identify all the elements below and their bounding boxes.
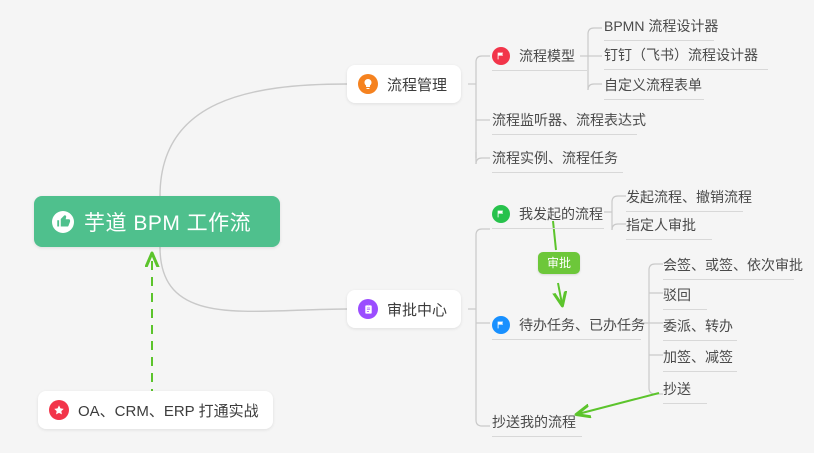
approval-badge-label: 审批: [547, 256, 571, 270]
node-reject[interactable]: 驳回: [663, 281, 691, 309]
node-label-process-listener-expression: 流程监听器、流程表达式: [492, 110, 646, 130]
node-assignee-approval[interactable]: 指定人审批: [626, 211, 696, 239]
node-add-remove-sign[interactable]: 加签、减签: [663, 343, 733, 371]
node-label-custom-process-form: 自定义流程表单: [604, 75, 702, 95]
star-icon: [49, 400, 69, 420]
node-label-todo-done-tasks: 待办任务、已办任务: [519, 315, 645, 335]
leaf-underline: [492, 436, 582, 437]
branch-label-process-management: 流程管理: [387, 74, 447, 95]
node-label-countersign-orsign-sequential: 会签、或签、依次审批: [663, 255, 803, 275]
node-countersign-orsign-sequential[interactable]: 会签、或签、依次审批: [663, 251, 803, 279]
root-label: 芋道 BPM 工作流: [84, 207, 251, 237]
node-process-instance-task[interactable]: 流程实例、流程任务: [492, 144, 618, 172]
node-delegate-transfer[interactable]: 委派、转办: [663, 312, 733, 340]
branch-node-process-management[interactable]: 流程管理: [347, 65, 461, 103]
node-label-assignee-approval: 指定人审批: [626, 215, 696, 235]
node-start-cancel-process[interactable]: 发起流程、撤销流程: [626, 183, 752, 211]
leaf-underline: [492, 339, 641, 340]
node-todo-done-tasks[interactable]: 待办任务、已办任务: [492, 311, 645, 339]
leaf-underline: [663, 371, 737, 372]
leaf-underline: [663, 403, 707, 404]
node-label-process-instance-task: 流程实例、流程任务: [492, 148, 618, 168]
root-node[interactable]: 芋道 BPM 工作流: [34, 196, 280, 247]
node-bpmn-designer[interactable]: BPMN 流程设计器: [604, 12, 718, 40]
node-label-my-started-processes: 我发起的流程: [519, 204, 603, 224]
branch-node-approval-center[interactable]: 审批中心: [347, 290, 461, 328]
lightbulb-icon: [358, 74, 378, 94]
node-label-cc: 抄送: [663, 379, 691, 399]
node-label-add-remove-sign: 加签、减签: [663, 347, 733, 367]
leaf-underline: [604, 69, 768, 70]
node-label-start-cancel-process: 发起流程、撤销流程: [626, 187, 752, 207]
leaf-underline: [663, 340, 737, 341]
node-label-dingtalk-feishu-designer: 钉钉（飞书）流程设计器: [604, 45, 758, 65]
node-dingtalk-feishu-designer[interactable]: 钉钉（飞书）流程设计器: [604, 41, 758, 69]
branch-label-approval-center: 审批中心: [387, 299, 447, 320]
node-process-listener-expression[interactable]: 流程监听器、流程表达式: [492, 106, 646, 134]
mindmap-canvas: 芋道 BPM 工作流 流程管理 流程模型 BPMN 流程设计器 钉钉（飞书）流程…: [0, 0, 814, 453]
flag-icon: [492, 47, 510, 65]
footer-node-label: OA、CRM、ERP 打通实战: [78, 400, 259, 421]
node-label-process-model: 流程模型: [519, 46, 575, 66]
node-label-cc-to-me-processes: 抄送我的流程: [492, 412, 576, 432]
leaf-underline: [492, 228, 604, 229]
leaf-underline: [604, 99, 704, 100]
flag-icon: [492, 205, 510, 223]
leaf-underline: [663, 279, 794, 280]
node-process-model[interactable]: 流程模型: [492, 42, 575, 70]
leaf-underline: [663, 309, 707, 310]
thumbs-up-icon: [52, 211, 74, 233]
leaf-underline: [492, 172, 623, 173]
node-cc[interactable]: 抄送: [663, 375, 691, 403]
clipboard-icon: [358, 299, 378, 319]
node-label-delegate-transfer: 委派、转办: [663, 316, 733, 336]
node-label-bpmn-designer: BPMN 流程设计器: [604, 16, 718, 36]
node-my-started-processes[interactable]: 我发起的流程: [492, 200, 603, 228]
node-custom-process-form[interactable]: 自定义流程表单: [604, 71, 702, 99]
node-label-reject: 驳回: [663, 285, 691, 305]
approval-badge[interactable]: 审批: [538, 252, 580, 274]
node-cc-to-me-processes[interactable]: 抄送我的流程: [492, 408, 576, 436]
flag-icon: [492, 316, 510, 334]
leaf-underline: [492, 70, 587, 71]
leaf-underline: [492, 134, 637, 135]
leaf-underline: [626, 239, 712, 240]
footer-node-oa-crm-erp[interactable]: OA、CRM、ERP 打通实战: [38, 391, 273, 429]
